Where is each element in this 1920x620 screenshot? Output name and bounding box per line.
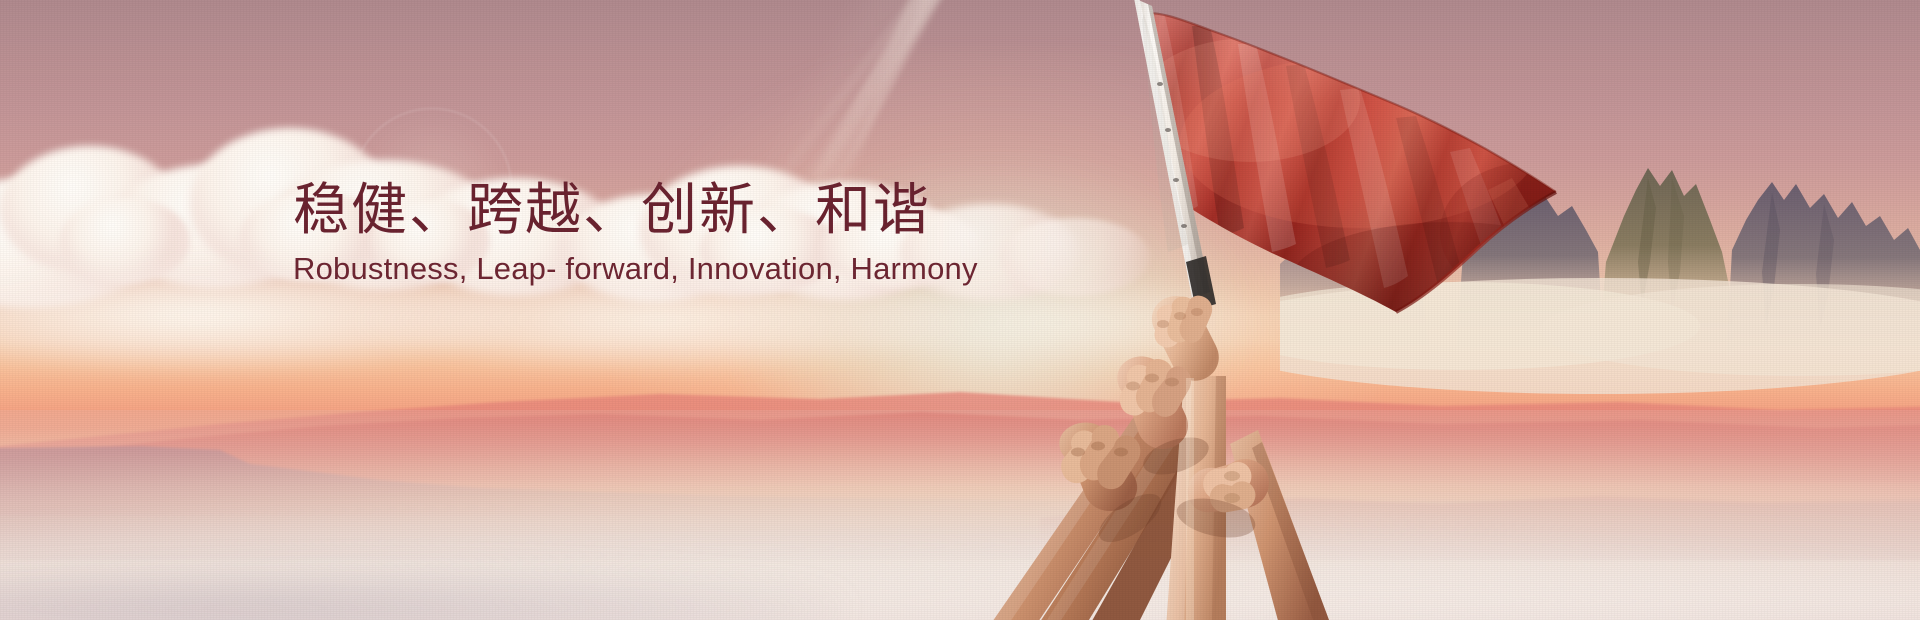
sky-gradient xyxy=(0,0,1920,620)
hero-banner: 稳健、跨越、创新、和谐 Robustness, Leap- forward, I… xyxy=(0,0,1920,620)
banner-copy: 稳健、跨越、创新、和谐 Robustness, Leap- forward, I… xyxy=(293,182,933,286)
page-title: 稳健、跨越、创新、和谐 xyxy=(293,182,933,238)
page-subtitle: Robustness, Leap- forward, Innovation, H… xyxy=(293,252,933,286)
